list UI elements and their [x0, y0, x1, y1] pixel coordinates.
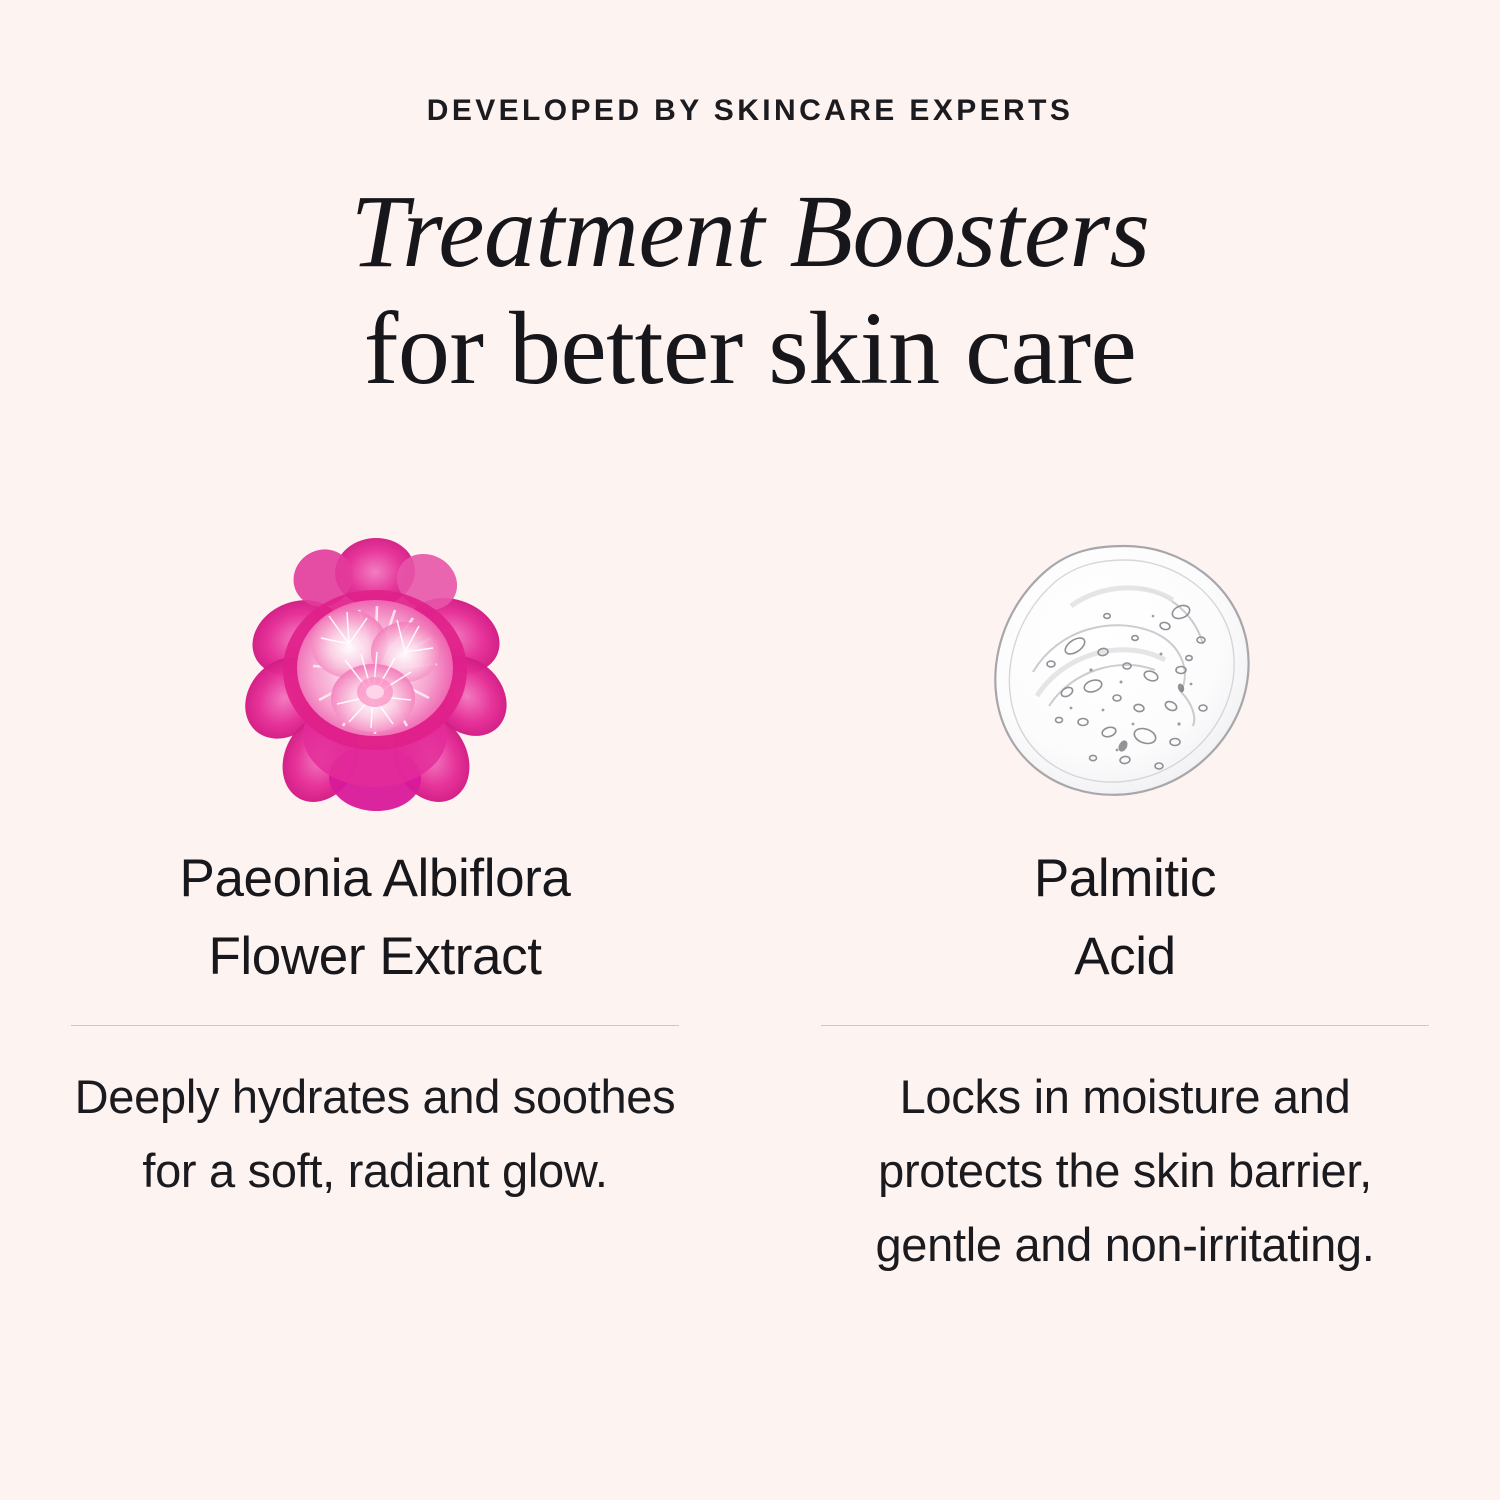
divider-line: [71, 1025, 679, 1026]
ingredient-name-peony: Paeonia Albiflora Flower Extract: [55, 840, 695, 997]
ingredient-column-peony: Paeonia Albiflora Flower Extract Deeply …: [0, 520, 750, 1283]
headline-line-2: for better skin care: [0, 288, 1500, 411]
infographic-page: DEVELOPED BY SKINCARE EXPERTS Treatment …: [0, 0, 1500, 1500]
ingredient-name-line-1: Paeonia Albiflora: [180, 849, 571, 908]
ingredient-name-line-2: Acid: [1074, 927, 1176, 986]
ingredient-name-line-1: Palmitic: [1034, 849, 1216, 908]
page-title: Treatment Boosters for better skin care: [0, 176, 1500, 411]
ingredient-description-palmitic: Locks in moisture and protects the skin …: [815, 1060, 1435, 1283]
ingredient-description-peony: Deeply hydrates and soothes for a soft, …: [65, 1060, 685, 1209]
divider-line: [821, 1025, 1429, 1026]
peony-flower-icon: [225, 520, 525, 820]
headline-line-1: Treatment Boosters: [0, 176, 1500, 288]
eyebrow-text: DEVELOPED BY SKINCARE EXPERTS: [0, 96, 1500, 126]
gel-droplet-icon: [975, 520, 1275, 820]
ingredient-column-palmitic: Palmitic Acid Locks in moisture and prot…: [750, 520, 1500, 1283]
ingredient-columns: Paeonia Albiflora Flower Extract Deeply …: [0, 520, 1500, 1283]
ingredient-name-palmitic: Palmitic Acid: [805, 840, 1445, 997]
ingredient-name-line-2: Flower Extract: [208, 927, 541, 986]
